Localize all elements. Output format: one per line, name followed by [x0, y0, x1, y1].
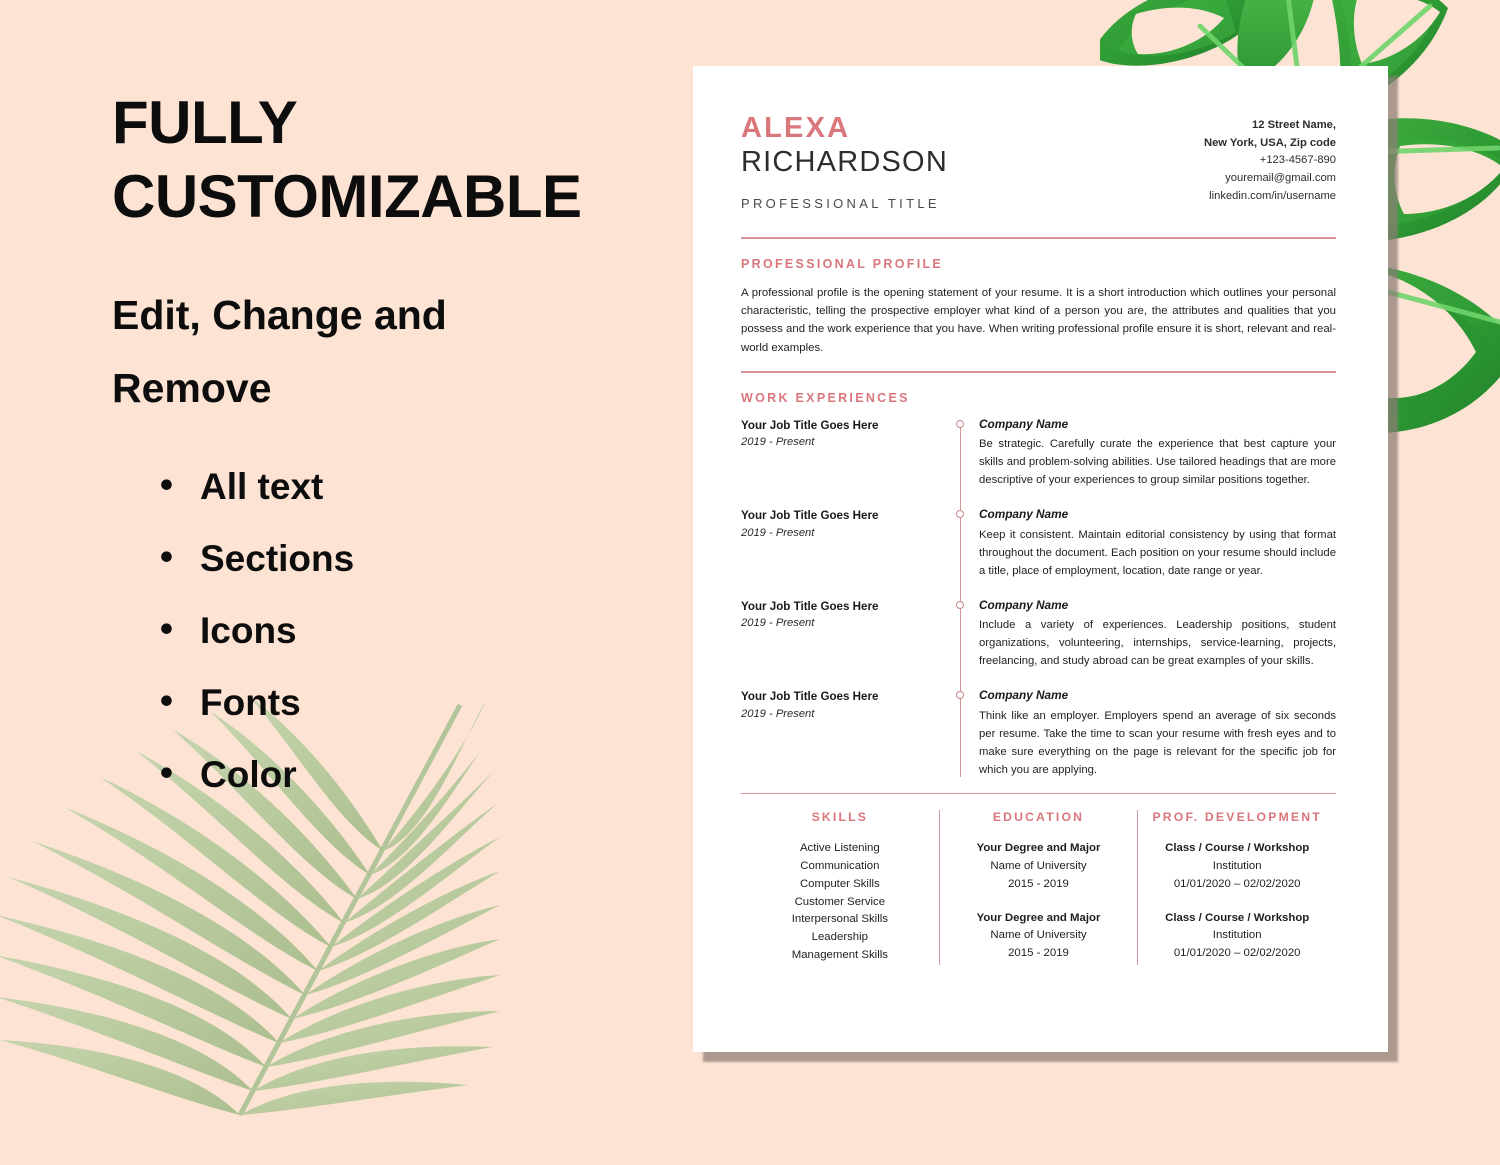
work-dates: 2019 - Present — [741, 436, 941, 448]
work-entry: Your Job Title Goes Here 2019 - Present … — [741, 688, 1336, 779]
education-column: EDUCATION Your Degree and Major Name of … — [939, 810, 1138, 964]
education-degree: Your Degree and Major — [948, 840, 1130, 858]
skill-item: Computer Skills — [749, 876, 931, 894]
contact-city: New York, USA, Zip code — [1204, 135, 1336, 153]
development-entry: Class / Course / Workshop Institution 01… — [1146, 840, 1328, 893]
contact-phone: +123-4567-890 — [1204, 152, 1336, 170]
work-dates: 2019 - Present — [741, 708, 941, 720]
timeline-dot-icon — [956, 510, 964, 518]
work-company: Company Name — [979, 417, 1336, 432]
work-description: Include a variety of experiences. Leader… — [979, 616, 1336, 670]
education-institution: Name of University — [948, 927, 1130, 945]
last-name: RICHARDSON — [741, 144, 948, 182]
promo-headline: FULLY CUSTOMIZABLE — [112, 86, 652, 235]
education-institution: Name of University — [948, 858, 1130, 876]
work-entry: Your Job Title Goes Here 2019 - Present … — [741, 598, 1336, 671]
timeline-dot-icon — [956, 691, 964, 699]
list-item: Icons — [160, 595, 690, 667]
skill-item: Communication — [749, 858, 931, 876]
section-title-development: PROF. DEVELOPMENT — [1146, 810, 1328, 824]
promo-subheadline: Edit, Change and Remove — [112, 279, 542, 425]
skills-column: SKILLS Active Listening Communication Co… — [741, 810, 939, 964]
work-company: Company Name — [979, 688, 1336, 703]
development-dates: 01/01/2020 – 02/02/2020 — [1146, 876, 1328, 894]
list-item: Color — [160, 739, 690, 811]
development-course: Class / Course / Workshop — [1146, 840, 1328, 858]
contact-email: youremail@gmail.com — [1204, 170, 1336, 188]
name-block: ALEXA RICHARDSON PROFESSIONAL TITLE — [741, 112, 948, 211]
work-dates: 2019 - Present — [741, 527, 941, 539]
work-entry: Your Job Title Goes Here 2019 - Present … — [741, 507, 1336, 580]
development-entry: Class / Course / Workshop Institution 01… — [1146, 910, 1328, 963]
work-dates: 2019 - Present — [741, 617, 941, 629]
contact-block: 12 Street Name, New York, USA, Zip code … — [1204, 112, 1336, 205]
skill-item: Active Listening — [749, 840, 931, 858]
contact-street: 12 Street Name, — [1204, 117, 1336, 135]
promo-feature-list: All text Sections Icons Fonts Color — [112, 451, 690, 812]
work-description: Keep it consistent. Maintain editorial c… — [979, 526, 1336, 580]
list-item: All text — [160, 451, 690, 523]
section-title-education: EDUCATION — [948, 810, 1130, 824]
section-title-work: WORK EXPERIENCES — [741, 391, 1336, 405]
development-column: PROF. DEVELOPMENT Class / Course / Works… — [1137, 810, 1336, 964]
skill-item: Customer Service — [749, 894, 931, 912]
profile-text: A professional profile is the opening st… — [741, 284, 1336, 358]
development-course: Class / Course / Workshop — [1146, 910, 1328, 928]
resume-header: ALEXA RICHARDSON PROFESSIONAL TITLE 12 S… — [741, 112, 1336, 211]
work-job-title: Your Job Title Goes Here — [741, 418, 941, 434]
education-degree: Your Degree and Major — [948, 910, 1130, 928]
development-institution: Institution — [1146, 927, 1328, 945]
profile-divider — [741, 371, 1336, 372]
work-description: Think like an employer. Employers spend … — [979, 707, 1336, 779]
work-job-title: Your Job Title Goes Here — [741, 508, 941, 524]
promo-panel: FULLY CUSTOMIZABLE Edit, Change and Remo… — [0, 0, 690, 1125]
development-dates: 01/01/2020 – 02/02/2020 — [1146, 945, 1328, 963]
education-dates: 2015 - 2019 — [948, 876, 1130, 894]
timeline-dot-icon — [956, 601, 964, 609]
bottom-divider — [741, 793, 1336, 794]
skill-item: Leadership — [749, 929, 931, 947]
work-entry: Your Job Title Goes Here 2019 - Present … — [741, 417, 1336, 490]
work-company: Company Name — [979, 598, 1336, 613]
development-institution: Institution — [1146, 858, 1328, 876]
list-item: Fonts — [160, 667, 690, 739]
education-entry: Your Degree and Major Name of University… — [948, 840, 1130, 893]
work-company: Company Name — [979, 507, 1336, 522]
timeline-dot-icon — [956, 420, 964, 428]
list-item: Sections — [160, 523, 690, 595]
skill-item: Management Skills — [749, 947, 931, 965]
work-experience-list: Your Job Title Goes Here 2019 - Present … — [741, 417, 1336, 779]
resume-card: ALEXA RICHARDSON PROFESSIONAL TITLE 12 S… — [693, 66, 1388, 1052]
skill-item: Interpersonal Skills — [749, 911, 931, 929]
first-name: ALEXA — [741, 112, 948, 144]
education-dates: 2015 - 2019 — [948, 945, 1130, 963]
work-description: Be strategic. Carefully curate the exper… — [979, 435, 1336, 489]
section-title-skills: SKILLS — [749, 810, 931, 824]
work-job-title: Your Job Title Goes Here — [741, 689, 941, 705]
contact-linkedin: linkedin.com/in/username — [1204, 188, 1336, 206]
bottom-columns: SKILLS Active Listening Communication Co… — [741, 810, 1336, 964]
work-job-title: Your Job Title Goes Here — [741, 599, 941, 615]
header-divider — [741, 237, 1336, 238]
education-entry: Your Degree and Major Name of University… — [948, 910, 1130, 963]
job-role: PROFESSIONAL TITLE — [741, 196, 948, 211]
section-title-profile: PROFESSIONAL PROFILE — [741, 257, 1336, 271]
